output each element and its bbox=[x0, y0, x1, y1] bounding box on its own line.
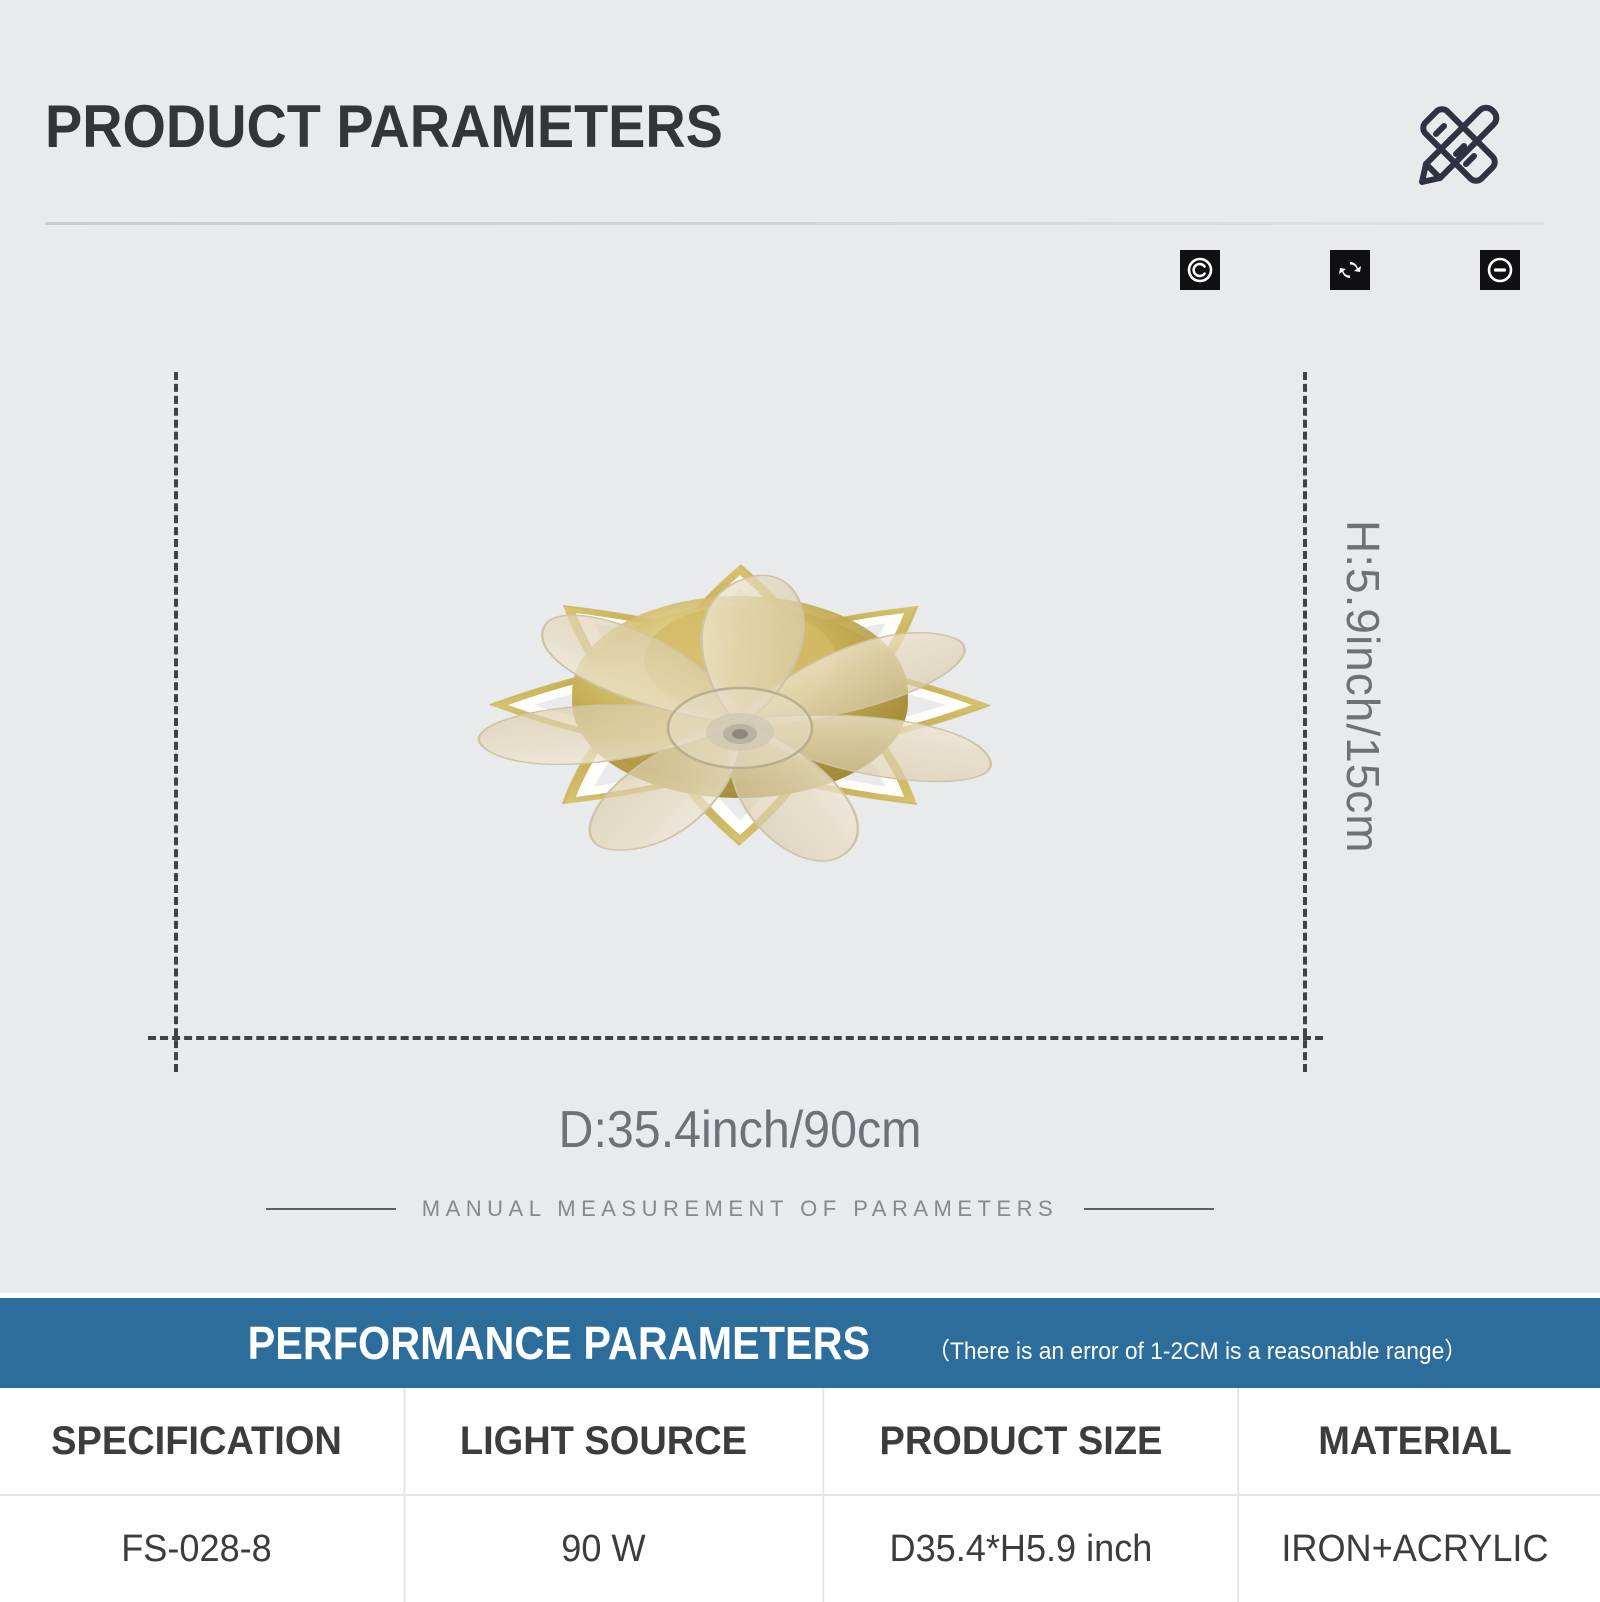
header-product-size: PRODUCT SIZE bbox=[822, 1388, 1217, 1494]
product-parameters-page: PRODUCT PARAMETERS bbox=[0, 0, 1600, 1600]
measurement-caption: MANUAL MEASUREMENT OF PARAMETERS bbox=[0, 1196, 1480, 1222]
copyright-badge bbox=[1180, 250, 1220, 290]
header-material: MATERIAL bbox=[1237, 1388, 1590, 1494]
table-row: FS-028-8 90 W D35.4*H5.9 inch IRON+ACRYL… bbox=[0, 1496, 1600, 1602]
dimension-guide-bottom bbox=[148, 1036, 1323, 1040]
caption-line-right bbox=[1084, 1208, 1214, 1210]
value-specification: FS-028-8 bbox=[10, 1496, 383, 1602]
header-divider bbox=[45, 222, 1545, 225]
height-dimension-label: H:5.9inch/15cm bbox=[1336, 520, 1390, 854]
caption-text: MANUAL MEASUREMENT OF PARAMETERS bbox=[422, 1196, 1058, 1222]
value-light-source: 90 W bbox=[403, 1496, 801, 1602]
caption-line-left bbox=[266, 1208, 396, 1210]
value-material: IRON+ACRYLIC bbox=[1237, 1496, 1590, 1602]
specification-table: SPECIFICATION LIGHT SOURCE PRODUCT SIZE … bbox=[0, 1388, 1600, 1600]
value-product-size: D35.4*H5.9 inch bbox=[822, 1496, 1217, 1602]
banner-note: （There is an error of 1-2CM is a reasona… bbox=[927, 1331, 1467, 1366]
page-title: PRODUCT PARAMETERS bbox=[45, 92, 723, 161]
performance-parameters-banner: PERFORMANCE PARAMETERS （There is an erro… bbox=[0, 1298, 1600, 1388]
banner-title: PERFORMANCE PARAMETERS bbox=[248, 1316, 871, 1370]
table-header-row: SPECIFICATION LIGHT SOURCE PRODUCT SIZE … bbox=[0, 1388, 1600, 1496]
header-light-source: LIGHT SOURCE bbox=[403, 1388, 801, 1494]
no-entry-badge bbox=[1480, 250, 1520, 290]
pencil-ruler-icon bbox=[1400, 92, 1510, 202]
diameter-dimension-label: D:35.4inch/90cm bbox=[52, 1100, 1428, 1160]
certification-badges bbox=[1180, 250, 1520, 292]
product-showcase-panel: PRODUCT PARAMETERS bbox=[0, 0, 1600, 1293]
product-image bbox=[150, 330, 1330, 1030]
header-specification: SPECIFICATION bbox=[10, 1388, 383, 1494]
recycle-badge bbox=[1330, 250, 1370, 290]
